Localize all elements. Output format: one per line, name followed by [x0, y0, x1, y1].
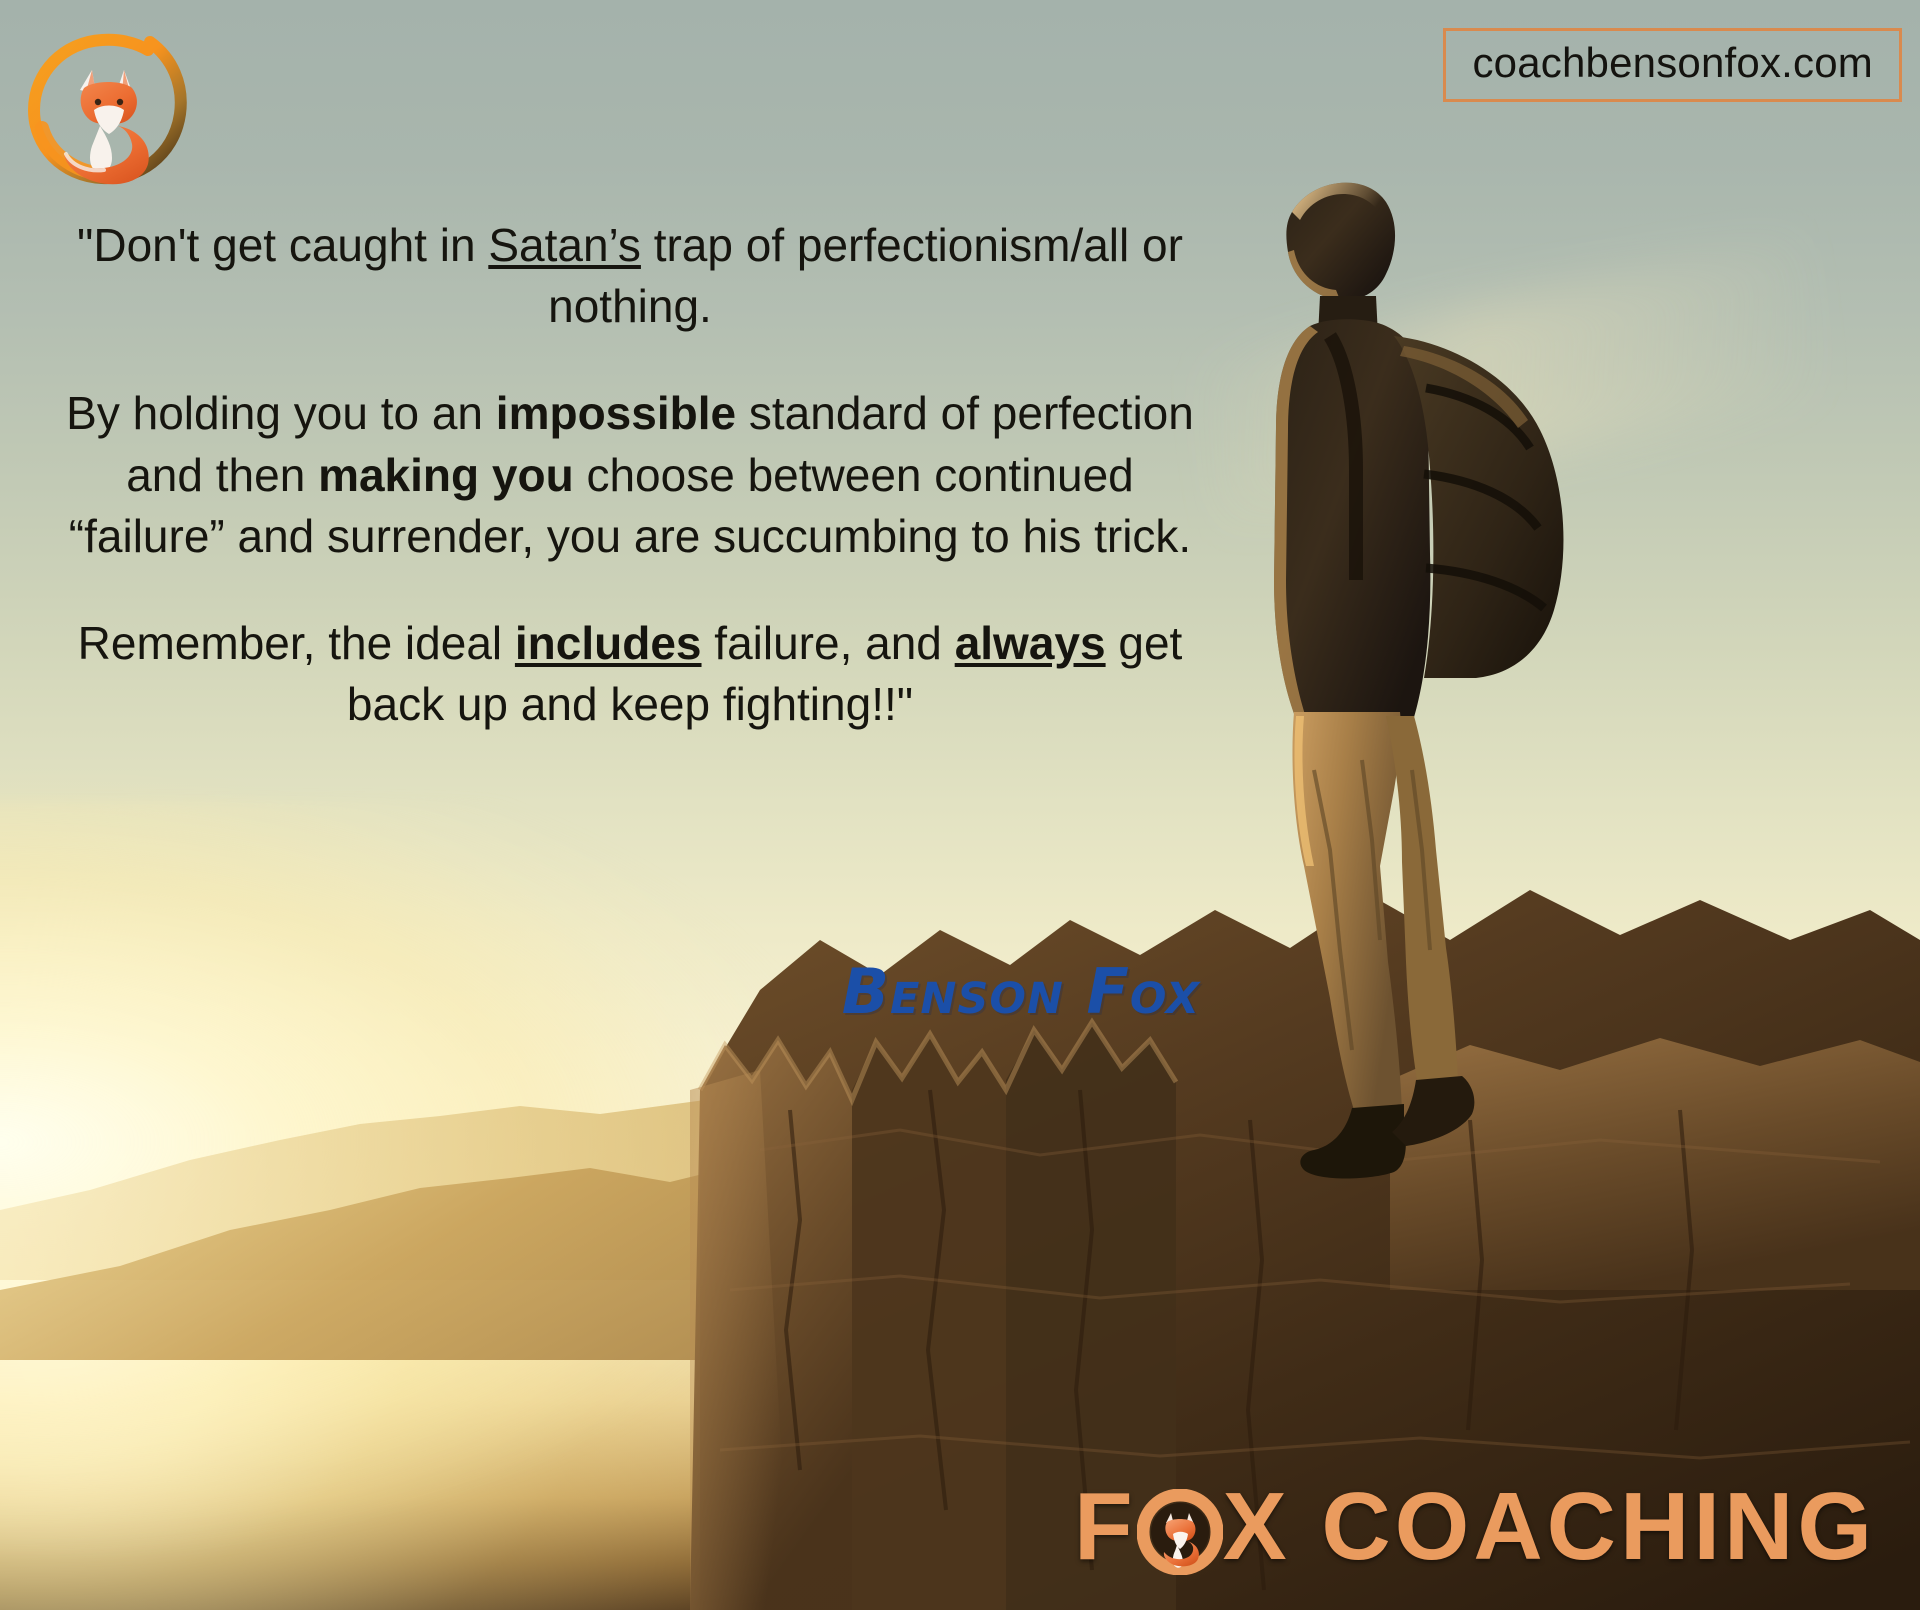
quote-p3-part1: Remember, the ideal — [78, 617, 515, 669]
wordmark-part-1: F — [1074, 1472, 1137, 1582]
quote-paragraph-1: "Don't get caught in Satan’s trap of per… — [60, 215, 1200, 337]
quote-p2-bold-making-you: making you — [318, 449, 574, 501]
quote-text-block: "Don't get caught in Satan’s trap of per… — [60, 215, 1200, 735]
author-signature: Benson Fox — [60, 955, 1278, 1028]
paragraph-spacer — [60, 567, 1200, 613]
fox-coaching-wordmark: F X — [1074, 1472, 1876, 1582]
quote-p3-bold-always: always — [955, 617, 1106, 669]
quote-p2-part1: By holding you to an — [66, 387, 496, 439]
paragraph-spacer — [60, 337, 1200, 383]
quote-p3-part2: failure, and — [702, 617, 955, 669]
quote-poster: coachbensonfox.com "Don't get caught in … — [0, 0, 1920, 1610]
quote-p1-part2: trap of perfectionism/all or nothing. — [548, 219, 1183, 332]
fox-in-ring-logo-icon — [22, 18, 192, 188]
quote-paragraph-3: Remember, the ideal includes failure, an… — [60, 613, 1200, 735]
quote-p1-part1: "Don't get caught in — [77, 219, 488, 271]
fox-in-o-icon — [1137, 1479, 1223, 1575]
website-url-badge[interactable]: coachbensonfox.com — [1443, 28, 1902, 102]
quote-p2-bold-impossible: impossible — [496, 387, 736, 439]
wordmark-part-2: X COACHING — [1223, 1472, 1876, 1582]
quote-paragraph-2: By holding you to an impossible standard… — [60, 383, 1200, 567]
quote-p1-underlined: Satan’s — [488, 219, 641, 271]
quote-p3-bold-includes: includes — [515, 617, 702, 669]
